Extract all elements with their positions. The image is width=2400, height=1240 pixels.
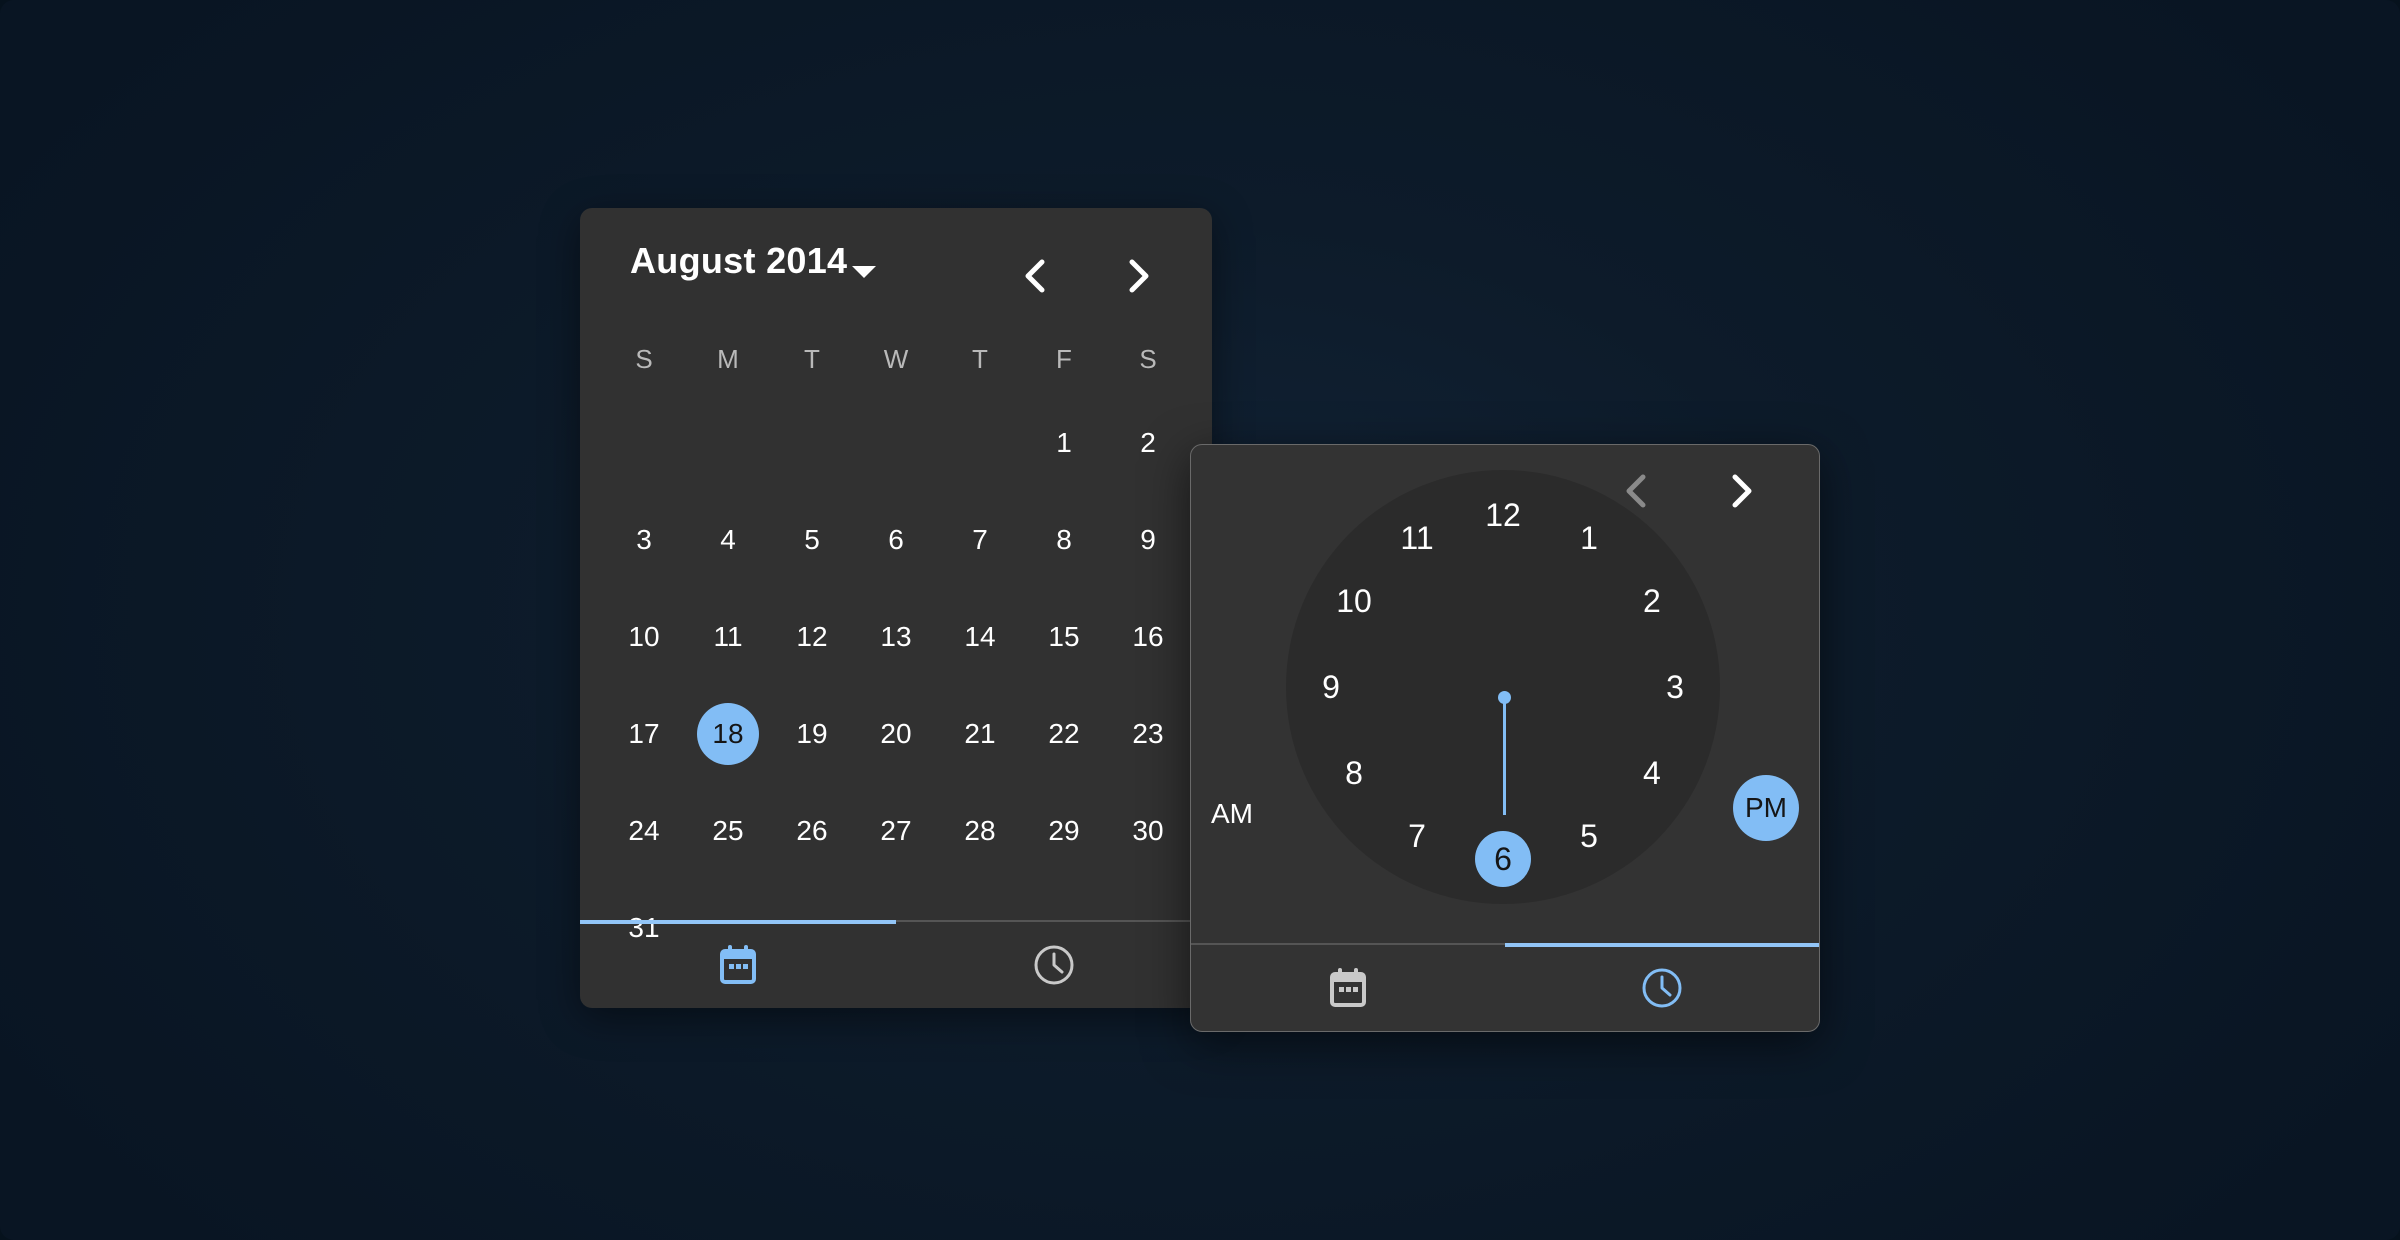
day-cell[interactable]: 20 — [854, 685, 938, 782]
chevron-down-icon[interactable] — [852, 266, 876, 278]
day-cell[interactable]: 13 — [854, 588, 938, 685]
week-row: 12 — [602, 394, 1190, 491]
hour-option[interactable]: 5 — [1561, 808, 1617, 864]
hour-option[interactable]: 3 — [1647, 659, 1703, 715]
day-cell[interactable]: 8 — [1022, 491, 1106, 588]
weekday-label: W — [854, 344, 938, 375]
day-cell[interactable]: 23 — [1106, 685, 1190, 782]
calendar-icon — [1328, 967, 1368, 1009]
tab-active-underline — [1505, 943, 1819, 947]
tab-calendar[interactable] — [580, 922, 896, 1008]
week-row: 24252627282930 — [602, 782, 1190, 879]
time-picker-dialog: 121234567891011 AM PM — [1190, 444, 1820, 1032]
day-number: 17 — [628, 720, 659, 748]
tab-active-underline — [580, 920, 896, 924]
day-number: 11 — [713, 623, 742, 651]
day-number: 28 — [964, 817, 995, 845]
day-cell[interactable]: 21 — [938, 685, 1022, 782]
day-number: 30 — [1132, 817, 1163, 845]
tab-clock[interactable] — [1505, 945, 1819, 1031]
day-cell[interactable]: 25 — [686, 782, 770, 879]
day-number: 31 — [628, 914, 659, 942]
day-cell[interactable]: 2 — [1106, 394, 1190, 491]
time-picker-tabbar — [1191, 943, 1819, 1031]
day-number: 22 — [1048, 720, 1079, 748]
day-cell[interactable]: 24 — [602, 782, 686, 879]
hour-option[interactable]: 11 — [1389, 510, 1445, 566]
clock-icon — [1640, 966, 1684, 1010]
day-cell[interactable]: 7 — [938, 491, 1022, 588]
hour-option[interactable]: 4 — [1624, 745, 1680, 801]
day-cell[interactable]: 26 — [770, 782, 854, 879]
pm-button[interactable]: PM — [1733, 775, 1799, 841]
hour-option[interactable]: 8 — [1326, 745, 1382, 801]
next-time-button[interactable] — [1715, 465, 1767, 517]
day-number: 18 — [712, 720, 743, 748]
day-number: 1 — [1056, 429, 1072, 457]
day-cell[interactable]: 15 — [1022, 588, 1106, 685]
day-cell[interactable]: 14 — [938, 588, 1022, 685]
app-background: August 2014 SMTWTFS 12345678910111213141… — [0, 0, 2400, 1240]
week-row: 10111213141516 — [602, 588, 1190, 685]
day-number: 4 — [720, 526, 736, 554]
day-cell[interactable]: 12 — [770, 588, 854, 685]
day-number: 3 — [636, 526, 652, 554]
weekday-label: S — [1106, 344, 1190, 375]
day-cell[interactable]: 16 — [1106, 588, 1190, 685]
day-cell[interactable]: 3 — [602, 491, 686, 588]
calendar-icon — [718, 944, 758, 986]
day-number: 6 — [888, 526, 904, 554]
date-picker-header: August 2014 — [580, 208, 1212, 312]
am-button[interactable]: AM — [1199, 781, 1265, 847]
day-cell[interactable]: 28 — [938, 782, 1022, 879]
weekday-label: F — [1022, 344, 1106, 375]
day-cell-empty — [602, 394, 686, 491]
date-picker-dialog: August 2014 SMTWTFS 12345678910111213141… — [580, 208, 1212, 1008]
day-number: 12 — [796, 623, 827, 651]
prev-month-button[interactable] — [1010, 250, 1062, 302]
day-grid: 1234567891011121314151617181920212223242… — [602, 394, 1190, 976]
week-row: 17181920212223 — [602, 685, 1190, 782]
day-number: 14 — [964, 623, 995, 651]
day-cell[interactable]: 4 — [686, 491, 770, 588]
hour-option[interactable]: 10 — [1326, 573, 1382, 629]
day-cell[interactable]: 27 — [854, 782, 938, 879]
day-number: 8 — [1056, 526, 1072, 554]
weekday-label: M — [686, 344, 770, 375]
tab-calendar[interactable] — [1191, 945, 1505, 1031]
day-number: 29 — [1048, 817, 1079, 845]
clock-icon — [1032, 943, 1076, 987]
hour-option[interactable]: 9 — [1303, 659, 1359, 715]
day-number: 23 — [1132, 720, 1163, 748]
day-cell[interactable]: 17 — [602, 685, 686, 782]
day-cell[interactable]: 6 — [854, 491, 938, 588]
hour-option[interactable]: 1 — [1561, 510, 1617, 566]
day-cell[interactable]: 22 — [1022, 685, 1106, 782]
day-number: 2 — [1140, 429, 1156, 457]
day-cell-selected[interactable]: 18 — [686, 685, 770, 782]
day-cell[interactable]: 30 — [1106, 782, 1190, 879]
weekday-header-row: SMTWTFS — [602, 344, 1190, 375]
day-number: 27 — [880, 817, 911, 845]
day-cell[interactable]: 9 — [1106, 491, 1190, 588]
day-number: 13 — [880, 623, 911, 651]
hour-option[interactable]: 7 — [1389, 808, 1445, 864]
day-cell-empty — [686, 394, 770, 491]
weekday-label: T — [938, 344, 1022, 375]
day-cell[interactable]: 10 — [602, 588, 686, 685]
day-cell-empty — [770, 394, 854, 491]
clock-center-dot — [1498, 691, 1511, 704]
day-cell[interactable]: 5 — [770, 491, 854, 588]
day-number: 16 — [1132, 623, 1163, 651]
day-number: 9 — [1140, 526, 1156, 554]
date-picker-tabbar — [580, 920, 1212, 1008]
day-cell-empty — [938, 394, 1022, 491]
hour-option-selected[interactable]: 6 — [1475, 831, 1531, 887]
weekday-label: T — [770, 344, 854, 375]
day-number: 24 — [628, 817, 659, 845]
day-number: 15 — [1048, 623, 1079, 651]
day-number: 21 — [964, 720, 995, 748]
clock-hour-hand — [1503, 697, 1506, 815]
next-month-button[interactable] — [1112, 250, 1164, 302]
tab-clock[interactable] — [896, 922, 1212, 1008]
day-number: 7 — [972, 526, 988, 554]
week-row: 3456789 — [602, 491, 1190, 588]
day-number: 10 — [628, 623, 659, 651]
day-cell[interactable]: 11 — [686, 588, 770, 685]
hour-option[interactable]: 2 — [1624, 573, 1680, 629]
day-number: 25 — [712, 817, 743, 845]
weekday-label: S — [602, 344, 686, 375]
day-number: 19 — [796, 720, 827, 748]
day-number: 5 — [804, 526, 820, 554]
day-cell[interactable]: 29 — [1022, 782, 1106, 879]
day-cell[interactable]: 19 — [770, 685, 854, 782]
day-cell-empty — [854, 394, 938, 491]
clock-face[interactable]: 121234567891011 — [1286, 470, 1720, 904]
day-cell[interactable]: 1 — [1022, 394, 1106, 491]
hour-option[interactable]: 12 — [1475, 487, 1531, 543]
day-number: 26 — [796, 817, 827, 845]
month-year-label[interactable]: August 2014 — [630, 240, 847, 282]
day-number: 20 — [880, 720, 911, 748]
